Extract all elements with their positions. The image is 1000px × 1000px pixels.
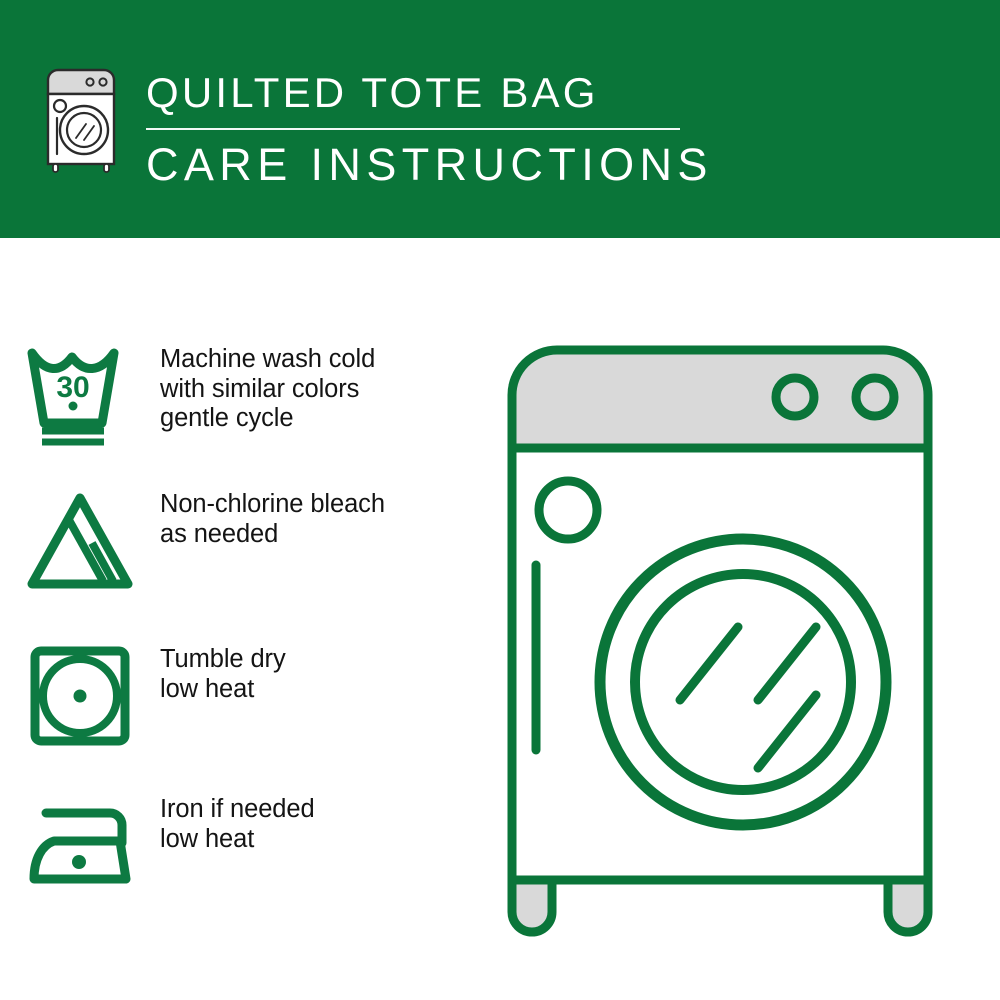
iron-low-heat-icon	[0, 793, 160, 899]
control-panel	[512, 350, 928, 448]
list-item: Tumble dry low heat	[0, 643, 480, 749]
wash-temperature-label: 30	[56, 371, 89, 404]
wash-tub-30-gentle-icon: 30	[0, 343, 160, 449]
non-chlorine-bleach-triangle-icon	[0, 488, 160, 594]
page-title-secondary: CARE INSTRUCTIONS	[146, 138, 846, 192]
front-load-washing-machine-illustration	[490, 330, 980, 940]
header-banner: QUILTED TOTE BAG CARE INSTRUCTIONS	[0, 0, 1000, 238]
list-item: 30 Machine wash cold with similar colors…	[0, 343, 480, 449]
machine-body	[512, 448, 928, 880]
care-instructions-list: 30 Machine wash cold with similar colors…	[0, 238, 480, 1000]
list-item: Non-chlorine bleach as needed	[0, 488, 480, 594]
care-instructions-infographic: QUILTED TOTE BAG CARE INSTRUCTIONS 30	[0, 0, 1000, 1000]
list-item-label: Machine wash cold with similar colors ge…	[160, 343, 375, 434]
tumble-dry-low-heat-icon	[0, 643, 160, 749]
list-item: Iron if needed low heat	[0, 793, 480, 899]
list-item-label: Iron if needed low heat	[160, 793, 315, 854]
list-item-label: Non-chlorine bleach as needed	[160, 488, 385, 549]
header-title-group: QUILTED TOTE BAG CARE INSTRUCTIONS	[146, 68, 846, 192]
list-item-label: Tumble dry low heat	[160, 643, 286, 704]
page-title-primary: QUILTED TOTE BAG	[146, 68, 846, 118]
washing-machine-icon	[44, 66, 118, 174]
title-divider	[146, 128, 680, 130]
